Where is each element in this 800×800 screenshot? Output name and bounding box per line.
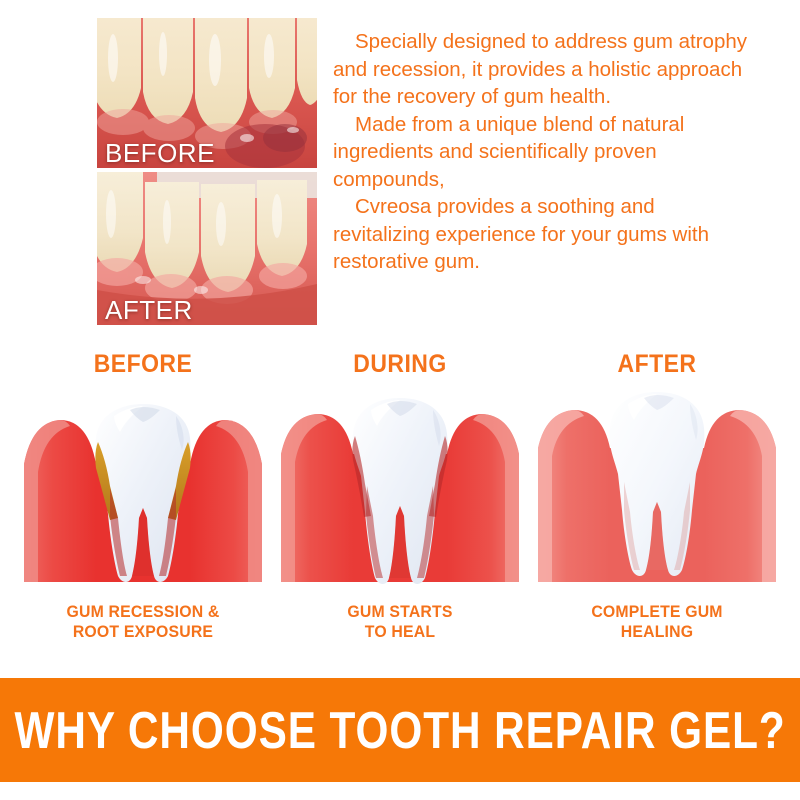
stage-caption-during-line2: TO HEAL bbox=[365, 622, 435, 641]
tooth-illustration-during bbox=[267, 386, 533, 601]
stage-caption-before-line1: GUM RECESSION & bbox=[66, 602, 219, 621]
description-paragraph-1: Specially designed to address gum atroph… bbox=[333, 28, 753, 111]
clinical-photo-before: BEFORE bbox=[97, 18, 317, 168]
tooth-illustration-after bbox=[524, 386, 790, 601]
product-description: Specially designed to address gum atroph… bbox=[333, 28, 753, 276]
photo-caption-after: AFTER bbox=[105, 297, 193, 323]
top-section: BEFORE bbox=[0, 0, 800, 340]
headline-banner: WHY CHOOSE TOOTH REPAIR GEL? bbox=[0, 678, 800, 782]
stage-title-before: BEFORE bbox=[21, 350, 266, 379]
photo-caption-before: BEFORE bbox=[105, 140, 215, 166]
stage-after: AFTER bbox=[524, 350, 790, 660]
description-paragraph-3: Cvreosa provides a soothing and revitali… bbox=[333, 193, 753, 276]
stage-caption-during-line1: GUM STARTS bbox=[347, 602, 452, 621]
stage-caption-after: COMPLETE GUM HEALING bbox=[533, 602, 780, 642]
stage-during: DURING bbox=[267, 350, 533, 660]
stage-before: BEFORE bbox=[10, 350, 276, 660]
tooth-illustration-before bbox=[10, 386, 276, 601]
banner-headline: WHY CHOOSE TOOTH REPAIR GEL? bbox=[14, 700, 785, 760]
stage-title-after: AFTER bbox=[535, 350, 780, 379]
treatment-stage-diagram: BEFORE bbox=[0, 350, 800, 660]
stage-caption-before: GUM RECESSION & ROOT EXPOSURE bbox=[19, 602, 266, 642]
description-paragraph-2: Made from a unique blend of natural ingr… bbox=[333, 111, 753, 194]
stage-caption-during: GUM STARTS TO HEAL bbox=[276, 602, 523, 642]
stage-caption-after-line2: HEALING bbox=[621, 622, 693, 641]
stage-title-during: DURING bbox=[278, 350, 523, 379]
clinical-photo-after: AFTER bbox=[97, 172, 317, 325]
stage-caption-before-line2: ROOT EXPOSURE bbox=[73, 622, 213, 641]
stage-caption-after-line1: COMPLETE GUM bbox=[591, 602, 722, 621]
